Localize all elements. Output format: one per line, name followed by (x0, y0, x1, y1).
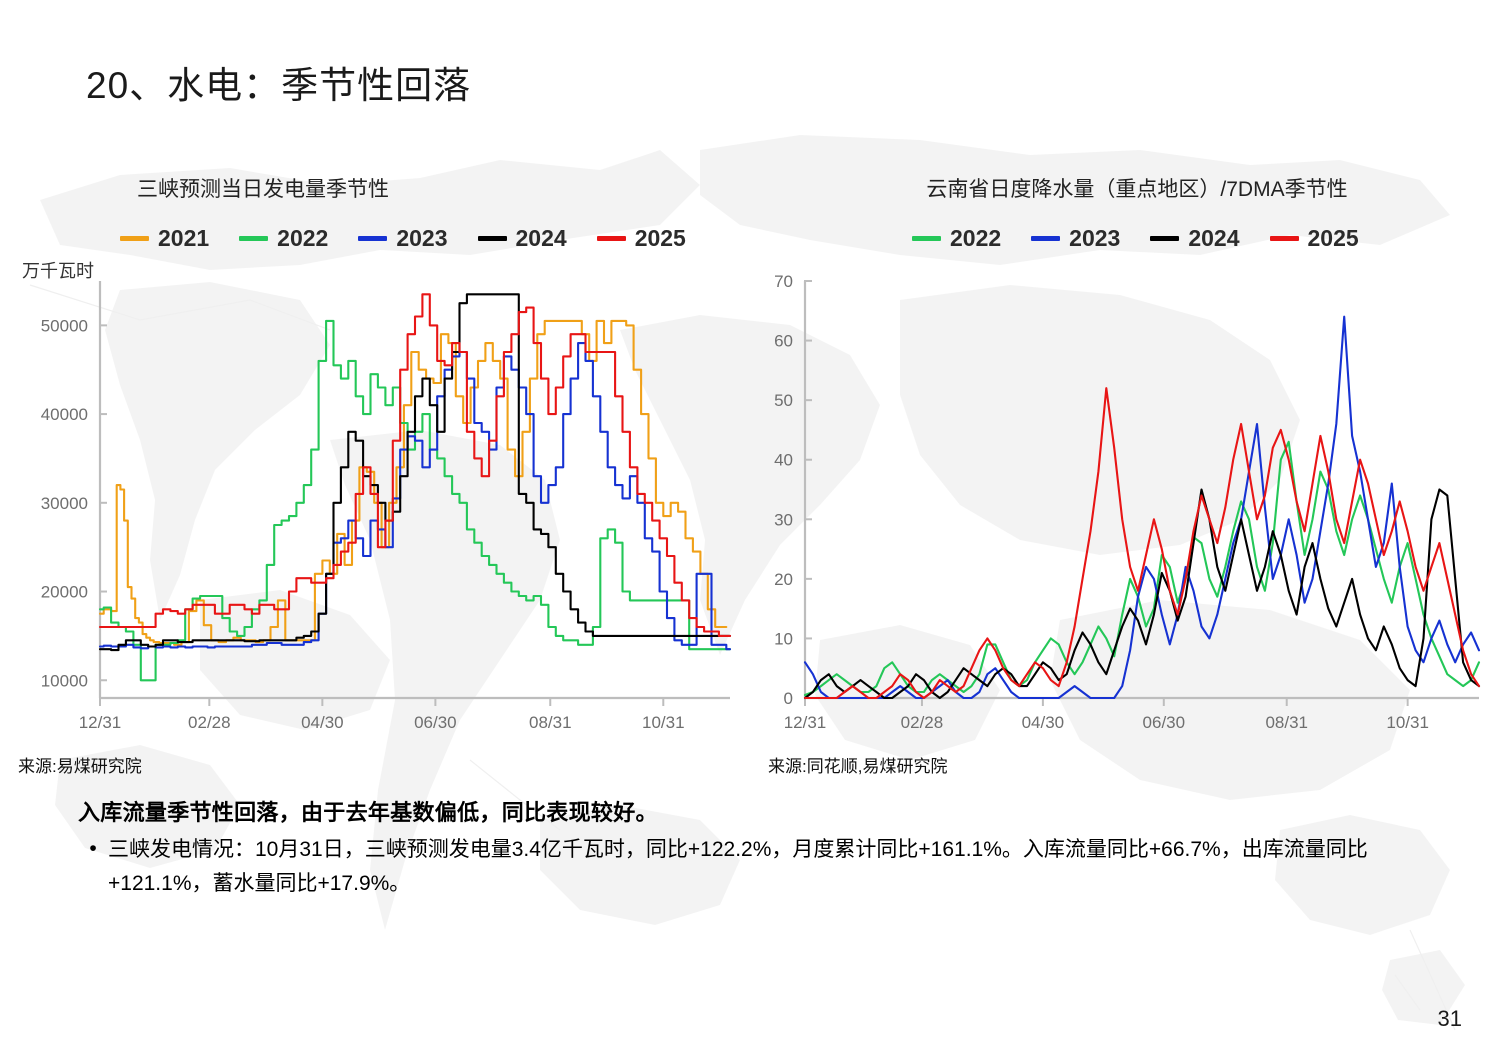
legend-item-2025[interactable]: 2025 (1270, 225, 1359, 252)
y-tick-label: 70 (774, 272, 793, 291)
x-tick-label: 10/31 (1386, 713, 1429, 732)
legend-label-2022: 2022 (277, 225, 328, 252)
series-line-2023 (805, 317, 1479, 698)
right-chart-panel: 云南省日度降水量（重点地区）/7DMA季节性 2022 2023 2024 20… (757, 165, 1497, 785)
legend-swatch-2023 (358, 236, 387, 241)
legend-label-2022: 2022 (950, 225, 1001, 252)
legend-label-2023: 2023 (396, 225, 447, 252)
series-line-2021 (100, 321, 726, 645)
legend-item-2024[interactable]: 2024 (1150, 225, 1239, 252)
right-chart-source: 来源:同花顺,易煤研究院 (768, 752, 947, 777)
left-chart-svg: 100002000030000400005000012/3102/2804/30… (8, 275, 748, 740)
body-text-block: 入库流量季节性回落，由于去年基数偏低，同比表现较好。 • 三峡发电情况：10月3… (78, 795, 1458, 901)
x-tick-label: 04/30 (1022, 713, 1065, 732)
series-line-2025 (805, 388, 1479, 698)
x-tick-label: 02/28 (901, 713, 944, 732)
series-line-2024 (100, 294, 730, 650)
series-line-2024 (805, 490, 1479, 699)
y-tick-label: 40 (774, 451, 793, 470)
x-tick-label: 08/31 (1265, 713, 1308, 732)
left-chart-panel: 三峡预测当日发电量季节性 2021 2022 2023 2024 2025 (8, 165, 748, 785)
legend-label-2025: 2025 (635, 225, 686, 252)
legend-swatch-2025 (1270, 236, 1299, 241)
legend-label-2024: 2024 (516, 225, 567, 252)
legend-label-2025: 2025 (1308, 225, 1359, 252)
legend-swatch-2022 (239, 236, 268, 241)
legend-label-2023: 2023 (1069, 225, 1120, 252)
x-tick-label: 10/31 (642, 713, 685, 732)
left-chart-title: 三峡预测当日发电量季节性 (0, 173, 633, 203)
legend-item-2023[interactable]: 2023 (1031, 225, 1120, 252)
legend-swatch-2023 (1031, 236, 1060, 241)
y-tick-label: 10000 (41, 671, 88, 690)
legend-item-2025[interactable]: 2025 (597, 225, 686, 252)
series-line-2022 (100, 321, 730, 680)
y-tick-label: 0 (784, 689, 793, 708)
legend-swatch-2025 (597, 236, 626, 241)
x-tick-label: 12/31 (784, 713, 827, 732)
bullet-row: • 三峡发电情况：10月31日，三峡预测发电量3.4亿千瓦时，同比+122.2%… (78, 833, 1458, 901)
slide-root: 20、水电：季节性回落 三峡预测当日发电量季节性 2021 2022 2023 … (0, 0, 1500, 1050)
y-tick-label: 10 (774, 629, 793, 648)
legend-item-2022[interactable]: 2022 (239, 225, 328, 252)
y-tick-label: 50 (774, 391, 793, 410)
y-tick-label: 20 (774, 570, 793, 589)
x-tick-label: 06/30 (414, 713, 457, 732)
x-tick-label: 08/31 (529, 713, 572, 732)
legend-swatch-2021 (120, 236, 149, 241)
legend-label-2021: 2021 (158, 225, 209, 252)
y-tick-label: 20000 (41, 583, 88, 602)
y-tick-label: 30000 (41, 494, 88, 513)
legend-item-2021[interactable]: 2021 (120, 225, 209, 252)
legend-swatch-2024 (1150, 236, 1179, 241)
series-line-2025 (100, 294, 730, 636)
y-tick-label: 30 (774, 510, 793, 529)
y-tick-label: 50000 (41, 316, 88, 335)
right-chart-title: 云南省日度降水量（重点地区）/7DMA季节性 (767, 173, 1500, 203)
legend-item-2022[interactable]: 2022 (912, 225, 1001, 252)
legend-item-2023[interactable]: 2023 (358, 225, 447, 252)
right-chart-legend: 2022 2023 2024 2025 (912, 225, 1359, 252)
x-tick-label: 06/30 (1143, 713, 1186, 732)
bullet-marker: • (78, 833, 108, 865)
legend-label-2024: 2024 (1188, 225, 1239, 252)
bullet-text: 三峡发电情况：10月31日，三峡预测发电量3.4亿千瓦时，同比+122.2%，月… (108, 833, 1458, 901)
right-chart-svg: 01020304050607012/3102/2804/3006/3008/31… (757, 275, 1497, 740)
y-tick-label: 40000 (41, 405, 88, 424)
page-number: 31 (1438, 1006, 1462, 1032)
page-title: 20、水电：季节性回落 (86, 55, 471, 109)
body-headline: 入库流量季节性回落，由于去年基数偏低，同比表现较好。 (78, 795, 1458, 827)
x-tick-label: 04/30 (301, 713, 344, 732)
left-chart-legend: 2021 2022 2023 2024 2025 (120, 225, 686, 252)
x-tick-label: 02/28 (188, 713, 231, 732)
left-plot-area: 100002000030000400005000012/3102/2804/30… (8, 275, 748, 740)
legend-swatch-2022 (912, 236, 941, 241)
legend-item-2024[interactable]: 2024 (478, 225, 567, 252)
left-chart-source: 来源:易煤研究院 (18, 752, 142, 777)
y-tick-label: 60 (774, 332, 793, 351)
x-tick-label: 12/31 (79, 713, 122, 732)
right-plot-area: 01020304050607012/3102/2804/3006/3008/31… (757, 275, 1497, 740)
legend-swatch-2024 (478, 236, 507, 241)
series-line-2023 (100, 343, 730, 649)
